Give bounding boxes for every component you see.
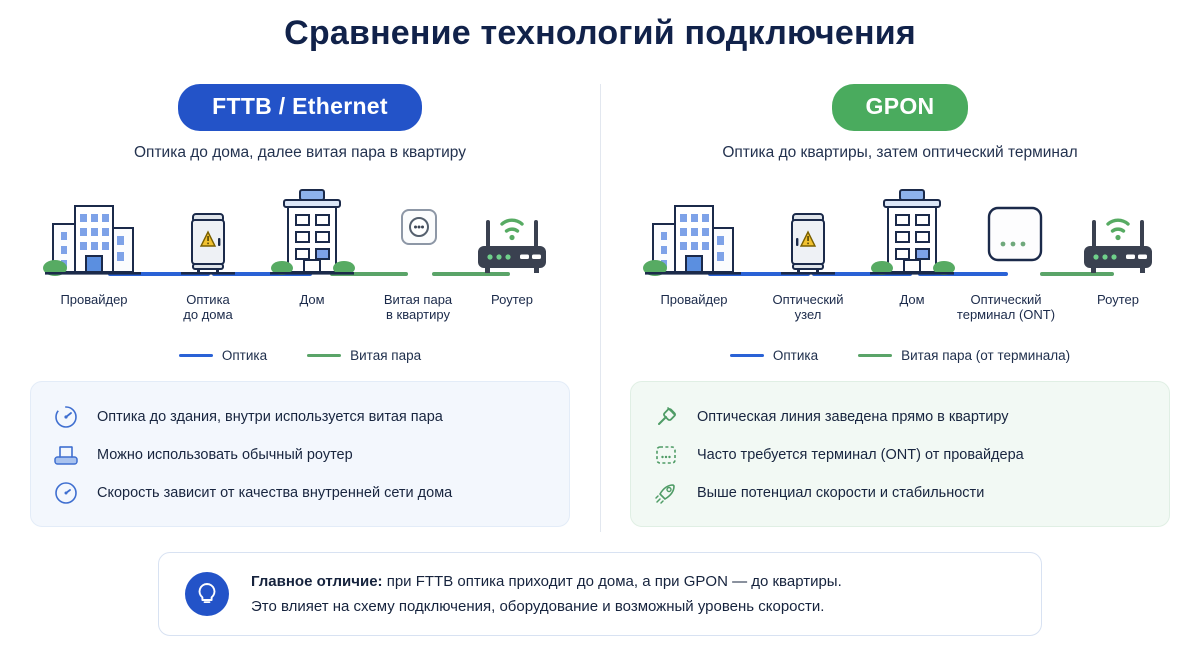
legend-item-utp: Витая пара (от терминала): [858, 348, 1070, 363]
conclusion-box: Главное отличие: при FTTB оптика приходи…: [158, 552, 1042, 636]
badge-gpon: GPON: [832, 84, 969, 131]
legend-label: Витая пара (от терминала): [901, 348, 1070, 363]
node-ont-gpon: Оптический терминал (ONT): [946, 184, 1066, 334]
feature-item: Оптика до здания, внутри используется ви…: [51, 398, 549, 436]
feature-item: Можно использовать обычный роутер: [51, 436, 549, 474]
node-label: Роутер: [1056, 292, 1180, 307]
feature-text: Оптическая линия заведена прямо в кварти…: [697, 408, 1009, 426]
legend-swatch-utp: [307, 354, 341, 357]
fiber-plug-icon: [651, 402, 681, 432]
legend-item-optic: Оптика: [179, 348, 267, 363]
feature-item: Оптическая линия заведена прямо в кварти…: [651, 398, 1149, 436]
legend-gpon: Оптика Витая пара (от терминала): [600, 348, 1200, 363]
legend-item-utp: Витая пара: [307, 348, 421, 363]
legend-label: Оптика: [773, 348, 818, 363]
legend-item-optic: Оптика: [730, 348, 818, 363]
conclusion-text: Главное отличие: при FTTB оптика приходи…: [251, 572, 842, 616]
legend-swatch-optic: [730, 354, 764, 357]
badge-wrap-gpon: GPON: [600, 84, 1200, 131]
node-optical-node-gpon: Оптический узел: [748, 184, 868, 334]
legend-swatch-optic: [179, 354, 213, 357]
node-label: Провайдер: [32, 292, 156, 307]
conclusion-line-1: Главное отличие: при FTTB оптика приходи…: [251, 572, 842, 591]
speedometer-icon: [51, 402, 81, 432]
conclusion-line-2: Это влияет на схему подключения, оборудо…: [251, 597, 842, 616]
column-fttb: FTTB / Ethernet Оптика до дома, далее ви…: [0, 84, 600, 534]
wifi-router-icon: [1058, 184, 1178, 284]
wifi-router-icon: [452, 184, 572, 284]
badge-wrap-fttb: FTTB / Ethernet: [0, 84, 600, 131]
feature-item: Выше потенциал скорости и стабильности: [651, 474, 1149, 512]
feature-card-fttb: Оптика до здания, внутри используется ви…: [30, 381, 570, 527]
diagram-gpon: Провайдер Оптический узел: [600, 184, 1200, 334]
badge-fttb: FTTB / Ethernet: [178, 84, 422, 131]
feature-text: Часто требуется терминал (ONT) от провай…: [697, 446, 1024, 464]
office-building-icon: [634, 184, 754, 284]
node-provider-gpon: Провайдер: [634, 184, 754, 334]
feature-item: Скорость зависит от качества внутренней …: [51, 474, 549, 512]
conclusion-lead: Главное отличие:: [251, 573, 383, 590]
subtitle-fttb: Оптика до дома, далее витая пара в кварт…: [0, 144, 600, 162]
feature-text: Выше потенциал скорости и стабильности: [697, 484, 984, 502]
feature-text: Оптика до здания, внутри используется ви…: [97, 408, 443, 426]
legend-swatch-utp: [858, 354, 892, 357]
feature-card-gpon: Оптическая линия заведена прямо в кварти…: [630, 381, 1170, 527]
conclusion-line-1-rest: при FTTB оптика приходит до дома, а при …: [383, 573, 842, 590]
node-router-fttb: Роутер: [452, 184, 572, 334]
node-provider-fttb: Провайдер: [34, 184, 154, 334]
ont-terminal-icon: [651, 440, 681, 470]
node-label: Роутер: [450, 292, 574, 307]
feature-item: Часто требуется терминал (ONT) от провай…: [651, 436, 1149, 474]
feature-text: Скорость зависит от качества внутренней …: [97, 484, 452, 502]
router-icon: [51, 440, 81, 470]
rocket-icon: [651, 478, 681, 508]
infographic-page: Сравнение технологий подключения FTTB / …: [0, 0, 1200, 658]
office-building-icon: [34, 184, 154, 284]
subtitle-gpon: Оптика до квартиры, затем оптический тер…: [600, 144, 1200, 162]
legend-label: Оптика: [222, 348, 267, 363]
node-label: Оптический терминал (ONT): [944, 292, 1068, 322]
diagram-fttb: Провайдер Оптика до дома: [0, 184, 600, 334]
gauge-icon: [51, 478, 81, 508]
node-house-fttb: Дом: [252, 184, 372, 334]
feature-text: Можно использовать обычный роутер: [97, 446, 353, 464]
column-gpon: GPON Оптика до квартиры, затем оптически…: [600, 84, 1200, 534]
legend-label: Витая пара: [350, 348, 421, 363]
node-router-gpon: Роутер: [1058, 184, 1178, 334]
street-cabinet-icon: [148, 184, 268, 284]
page-title: Сравнение технологий подключения: [0, 14, 1200, 53]
lightbulb-icon: [185, 572, 229, 616]
legend-fttb: Оптика Витая пара: [0, 348, 600, 363]
street-cabinet-icon: [748, 184, 868, 284]
ont-box-icon: [946, 184, 1066, 284]
node-label: Провайдер: [632, 292, 756, 307]
apartment-building-icon: [252, 184, 372, 284]
node-cabinet-fttb: Оптика до дома: [148, 184, 268, 334]
